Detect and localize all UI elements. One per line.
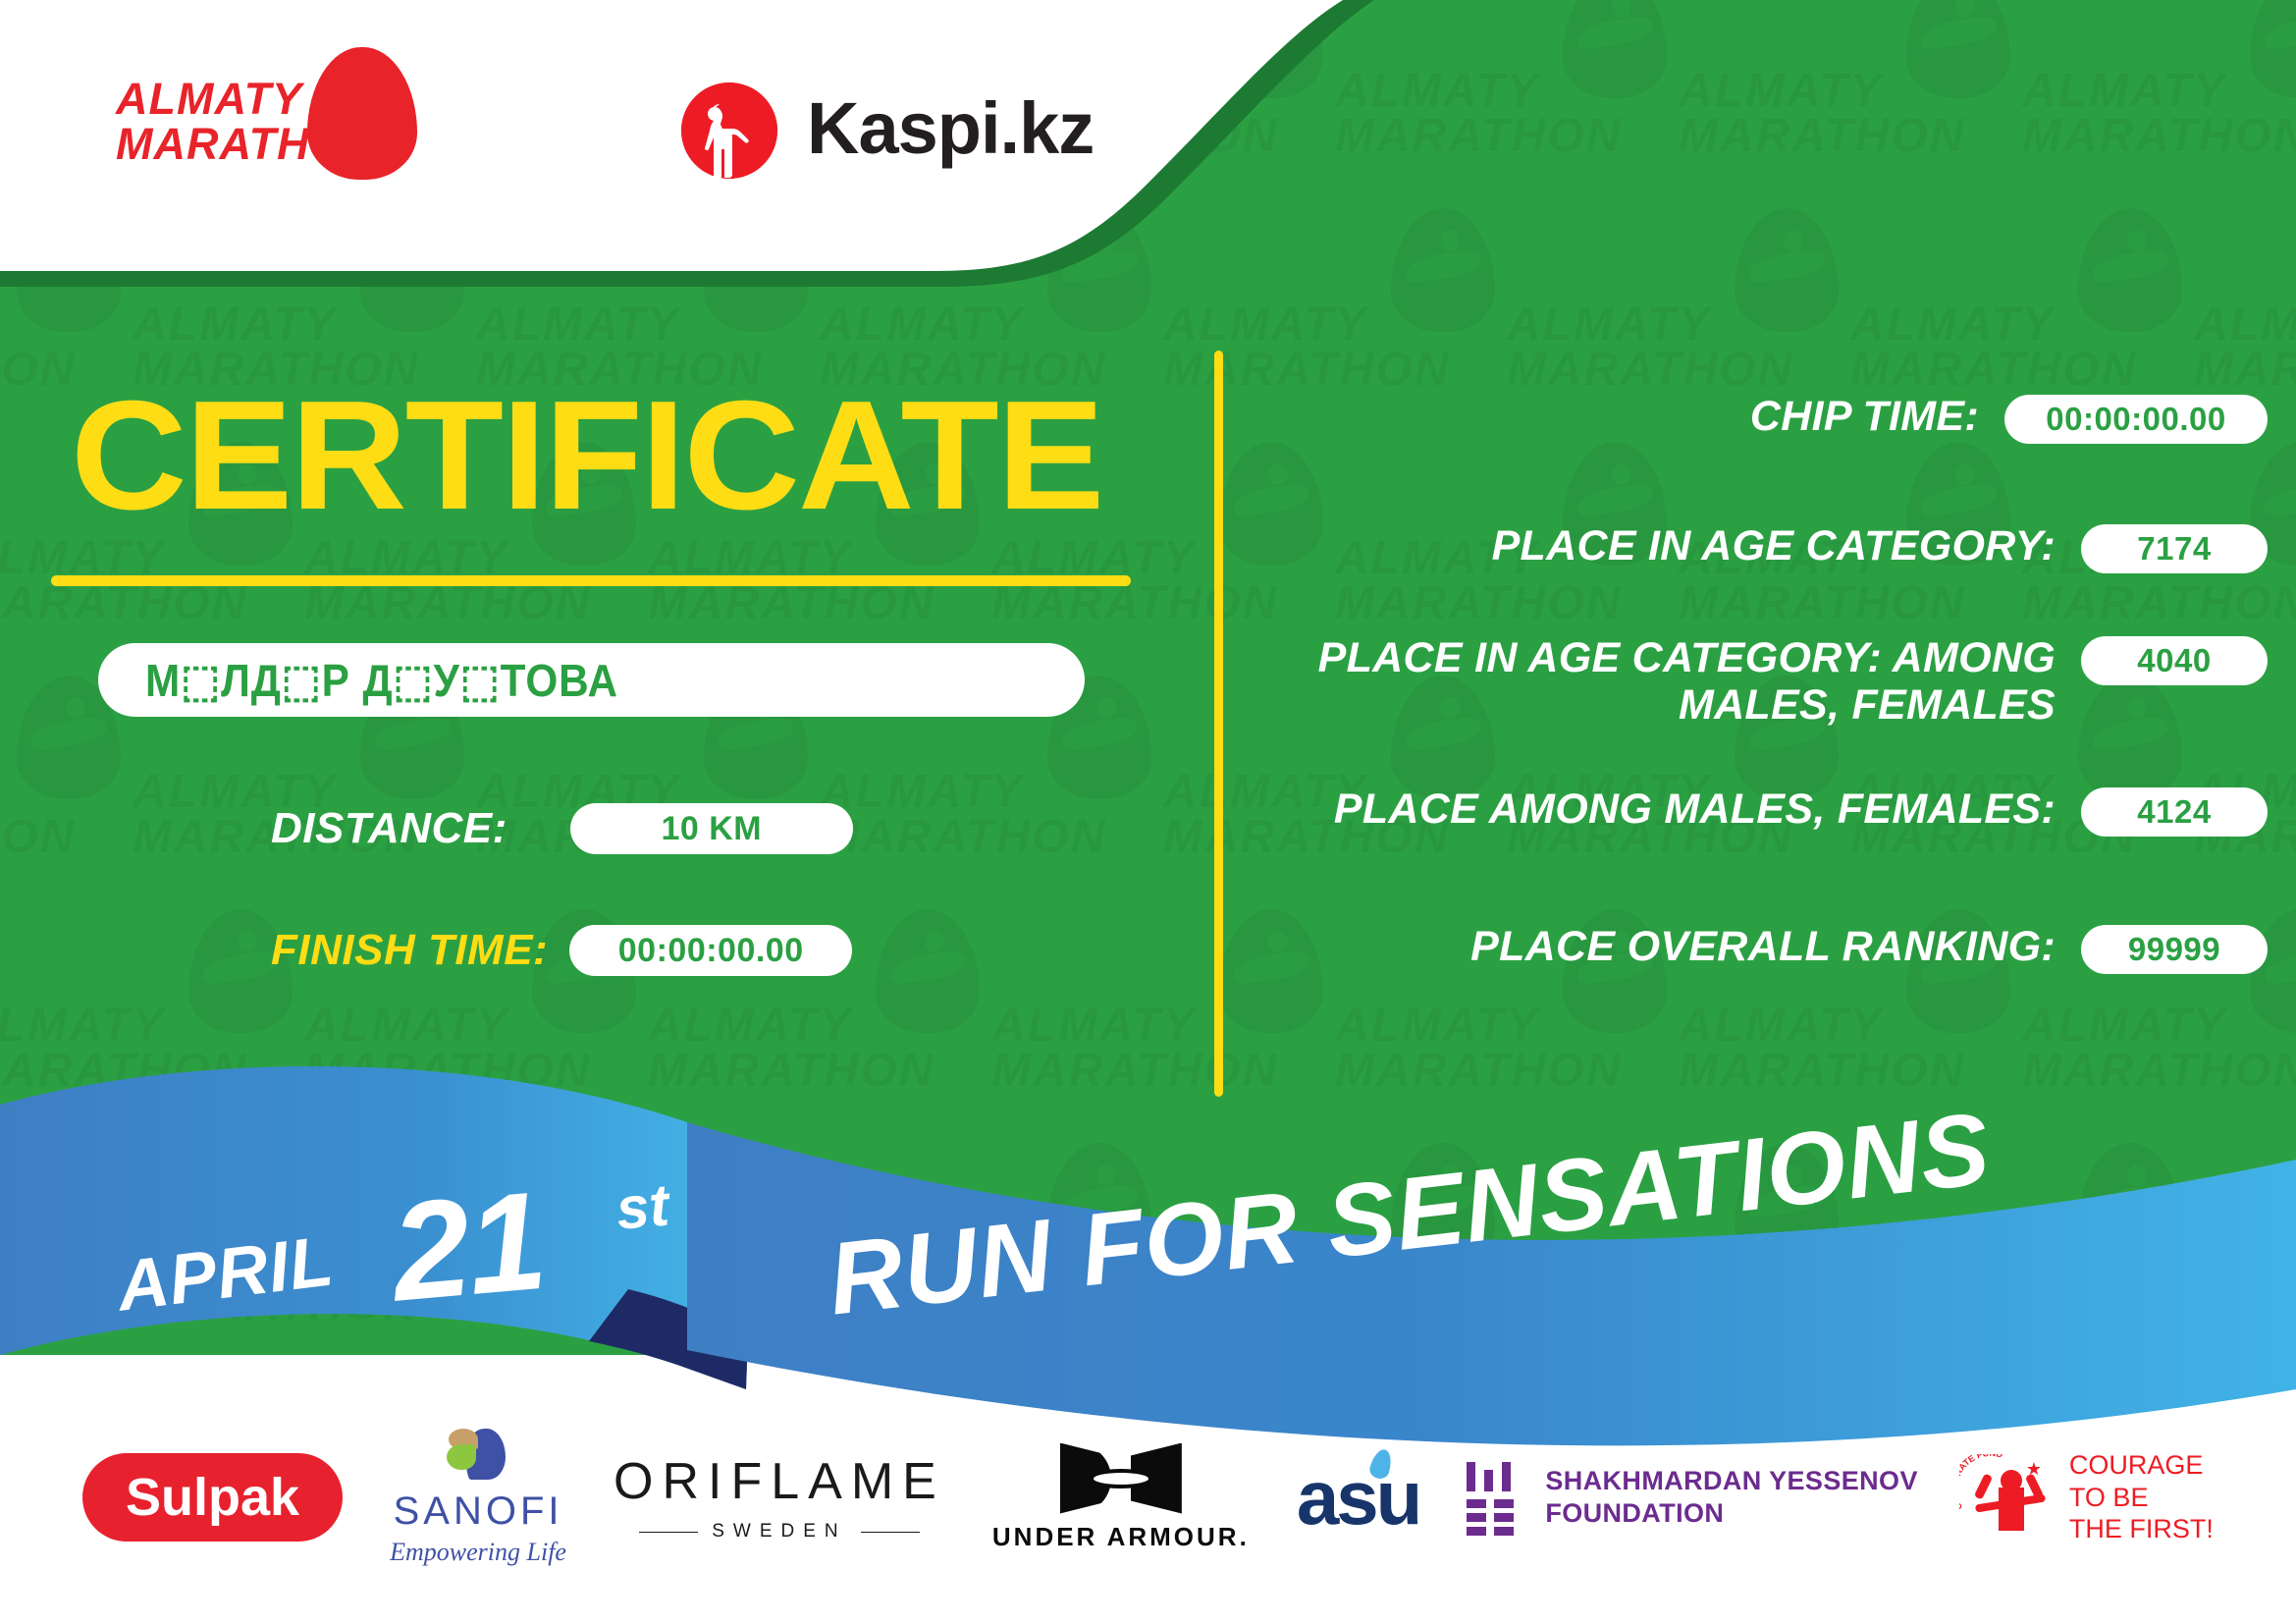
sponsor-yessenov-foundation: SHAKHMARDAN YESSENOV FOUNDATION <box>1467 1424 1918 1571</box>
sponsor-asu: asu <box>1297 1424 1419 1571</box>
place-overall-value: 99999 <box>2081 925 2268 974</box>
courage-line-3: THE FIRST! <box>2069 1513 2214 1545</box>
place-age-category-gender-label: PLACE IN AGE CATEGORY: AMONG MALES, FEMA… <box>1276 634 2081 729</box>
result-row-chip-time: CHIP TIME: 00:00:00.00 <box>1276 393 2268 444</box>
courage-line-2: TO BE <box>2069 1482 2214 1514</box>
ribbon-day-suffix: st <box>614 1170 671 1242</box>
result-row-place-overall: PLACE OVERALL RANKING: 99999 <box>1276 923 2268 974</box>
sponsor-bar: Sulpak SANOFI Empowering Life ORIFLAME S… <box>0 1404 2296 1591</box>
place-age-category-gender-value: 4040 <box>2081 636 2268 685</box>
watermark-runner-drop-icon <box>1563 0 1667 98</box>
column-divider <box>1214 351 1223 1097</box>
watermark-tile: ALMATYMARATHON <box>1679 0 2022 206</box>
oriflame-wordmark: ORIFLAME <box>614 1452 945 1511</box>
result-row-place-age-category: PLACE IN AGE CATEGORY: 7174 <box>1276 522 2268 573</box>
oriflame-sub: SWEDEN <box>639 1521 919 1543</box>
courage-runner-icon: CORPORATE FUND ★ <box>1965 1452 2056 1543</box>
place-overall-label: PLACE OVERALL RANKING: <box>1276 923 2081 970</box>
certificate-page: ALMATYMARATHONALMATYMARATHONALMATYMARATH… <box>0 0 2296 1624</box>
title-underline <box>51 575 1131 586</box>
watermark-runner-drop-icon <box>1735 208 1839 332</box>
sponsor-under-armour: UNDER ARMOUR. <box>992 1424 1250 1571</box>
sponsor-sanofi: SANOFI Empowering Life <box>390 1424 566 1571</box>
watermark-runner-drop-icon <box>2078 208 2182 332</box>
courage-wordmark: COURAGE TO BE THE FIRST! <box>2069 1449 2214 1546</box>
place-among-gender-value: 4124 <box>2081 787 2268 837</box>
sponsor-oriflame: ORIFLAME SWEDEN <box>614 1424 945 1571</box>
sanofi-tagline: Empowering Life <box>390 1538 566 1567</box>
divider-line-right <box>861 1532 920 1533</box>
yessenov-icon <box>1467 1462 1523 1533</box>
finish-time-row: FINISH TIME: 00:00:00.00 <box>271 925 852 976</box>
place-age-category-value: 7174 <box>2081 524 2268 573</box>
asu-wordmark: asu <box>1297 1454 1419 1541</box>
chip-time-value: 00:00:00.00 <box>2004 395 2268 444</box>
oriflame-country: SWEDEN <box>712 1521 846 1543</box>
distance-value: 10 KM <box>570 803 853 854</box>
under-armour-wordmark: UNDER ARMOUR. <box>992 1522 1250 1552</box>
yessenov-line-1: SHAKHMARDAN YESSENOV <box>1545 1465 1918 1497</box>
watermark-text: ALMATYMARATHON <box>2022 69 2296 158</box>
page-title: CERTIFICATE <box>71 378 1102 533</box>
yessenov-wordmark: SHAKHMARDAN YESSENOV FOUNDATION <box>1545 1465 1918 1530</box>
results-column: CHIP TIME: 00:00:00.00 PLACE IN AGE CATE… <box>1276 373 2268 1100</box>
participant-name-field: М⬚ЛД⬚Р Д⬚У⬚ТОВА <box>98 643 1085 717</box>
watermark-tile: ALMATYMARATHON <box>2022 0 2296 206</box>
sponsor-sulpak: Sulpak <box>82 1424 343 1571</box>
finish-time-value: 00:00:00.00 <box>569 925 852 976</box>
courage-line-1: COURAGE <box>2069 1449 2214 1482</box>
left-column: CERTIFICATE М⬚ЛД⬚Р Д⬚У⬚ТОВА DISTANCE: 10… <box>0 0 1178 1119</box>
sponsor-courage-fund: CORPORATE FUND ★ COURAGE TO BE THE FIRST… <box>1965 1424 2214 1571</box>
distance-row: DISTANCE: 10 KM <box>271 803 853 854</box>
place-among-gender-label: PLACE AMONG MALES, FEMALES: <box>1276 785 2081 833</box>
result-row-place-among-gender: PLACE AMONG MALES, FEMALES: 4124 <box>1276 785 2268 837</box>
result-row-place-age-category-gender: PLACE IN AGE CATEGORY: AMONG MALES, FEMA… <box>1276 634 2268 729</box>
distance-label: DISTANCE: <box>271 804 507 853</box>
place-age-category-label: PLACE IN AGE CATEGORY: <box>1276 522 2081 569</box>
sulpak-wordmark: Sulpak <box>82 1453 343 1542</box>
sanofi-icon <box>447 1429 509 1484</box>
chip-time-label: CHIP TIME: <box>1276 393 2004 440</box>
under-armour-icon <box>1060 1443 1182 1514</box>
yessenov-line-2: FOUNDATION <box>1545 1497 1918 1530</box>
divider-line-left <box>639 1532 698 1533</box>
finish-time-label: FINISH TIME: <box>271 926 548 975</box>
watermark-runner-drop-icon <box>1906 0 2010 98</box>
sanofi-wordmark: SANOFI <box>394 1489 563 1534</box>
participant-name: М⬚ЛД⬚Р Д⬚У⬚ТОВА <box>145 654 618 707</box>
ribbon-day: 21 <box>386 1161 551 1334</box>
